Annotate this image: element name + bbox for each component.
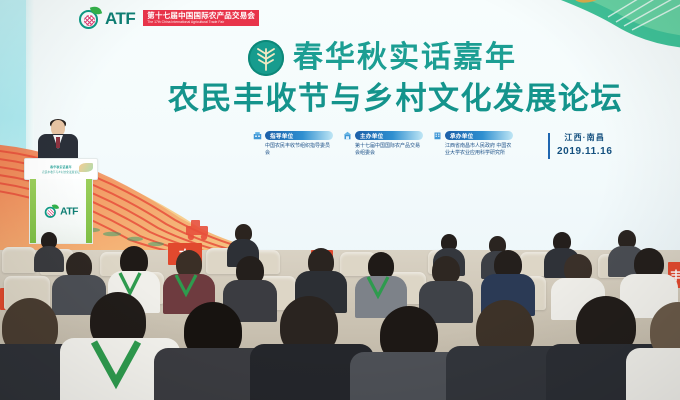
podium-apple-icon bbox=[44, 204, 58, 218]
podium-header-line1: 春华秋实话嘉年 bbox=[50, 165, 72, 169]
exhibition-name-band: 第十七届中国国际农产品交易会 The 17th China Internatio… bbox=[143, 10, 259, 26]
organizer-item: 主办单位 第十七届中国国际农产品交易会组委会 bbox=[343, 131, 423, 157]
audience-person bbox=[168, 250, 210, 308]
audience-person bbox=[360, 252, 402, 310]
exhibition-name-cn: 第十七届中国国际农产品交易会 bbox=[147, 12, 255, 20]
exhibition-name-en: The 17th China International Agricultura… bbox=[147, 20, 255, 24]
lanyard bbox=[168, 250, 210, 308]
audience-person bbox=[462, 300, 550, 400]
audience-person bbox=[638, 302, 680, 400]
podium-logo-word: ATF bbox=[60, 205, 78, 217]
audience-person bbox=[268, 296, 354, 400]
speaker-tie bbox=[56, 137, 60, 148]
forum-title-line2: 农民丰收节与乡村文化发展论坛 bbox=[168, 83, 680, 114]
event-date: 2019.11.16 bbox=[557, 146, 613, 157]
organizer-icon bbox=[433, 131, 442, 140]
audience-person bbox=[366, 306, 454, 400]
podium-header-line2: 农民丰收节与乡村文化发展论坛 bbox=[42, 170, 80, 174]
audience-person bbox=[78, 292, 162, 400]
organizer-body: 江西省南昌市人民政府 中国农业大学农业应用科学研究所 bbox=[433, 143, 513, 158]
organizer-label-pill: 主办单位 bbox=[355, 131, 423, 140]
organizer-body: 第十七届中国国际农产品交易会组委会 bbox=[343, 143, 423, 158]
host-icon bbox=[343, 131, 352, 140]
event-city: 江西·南昌 bbox=[557, 132, 613, 143]
organizer-label: 主办单位 bbox=[360, 132, 384, 140]
podium-catf-logo: ATF bbox=[44, 204, 77, 218]
audience-person bbox=[172, 302, 258, 400]
catf-logo-word: ATF bbox=[105, 10, 135, 27]
podium-sprig-icon bbox=[79, 163, 93, 172]
organizer-label: 承办单位 bbox=[450, 132, 474, 140]
lanyard bbox=[78, 292, 162, 400]
podium-header-panel: 春华秋实话嘉年 农民丰收节与乡村文化发展论坛 bbox=[24, 158, 98, 180]
forum-title-block: 春华秋实话嘉年 农民丰收节与乡村文化发展论坛 bbox=[168, 40, 680, 114]
catf-logo: ATF 第十七届中国国际农产品交易会 The 17th China Intern… bbox=[78, 6, 259, 30]
conference-photo: ATF 第十七届中国国际农产品交易会 The 17th China Intern… bbox=[0, 0, 680, 400]
catf-apple-icon bbox=[78, 6, 102, 30]
wheat-emblem-icon bbox=[248, 40, 284, 76]
forum-title-line1: 春华秋实话嘉年 bbox=[293, 43, 517, 73]
organizer-label-pill: 承办单位 bbox=[445, 131, 513, 140]
date-location-block: 江西·南昌 2019.11.16 bbox=[548, 132, 613, 157]
organizer-item: 承办单位 江西省南昌市人民政府 中国农业大学农业应用科学研究所 bbox=[433, 131, 513, 157]
seat bbox=[2, 247, 36, 273]
lanyard bbox=[360, 252, 402, 310]
